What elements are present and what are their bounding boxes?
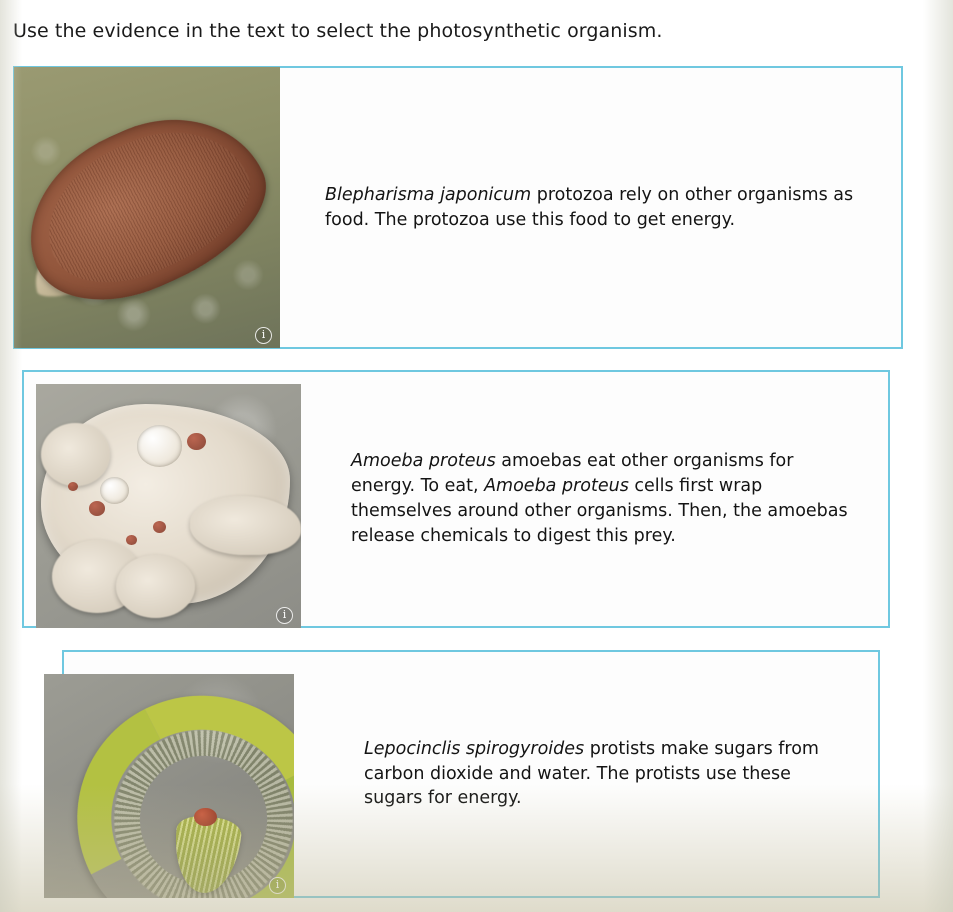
answer-option-lepocinclis[interactable]: i Lepocinclis spirogyroides protists mak… (62, 650, 880, 898)
page-title: Use the evidence in the text to select t… (13, 20, 663, 42)
info-icon[interactable]: i (276, 607, 293, 624)
blepharisma-micrograph-image[interactable]: i (14, 67, 280, 348)
lepocinclis-spiral-body (44, 674, 294, 898)
amoeba-vacuole (100, 477, 129, 504)
blepharisma-field (14, 67, 280, 348)
amoeba-species-name-2: Amoeba proteus (484, 476, 629, 496)
amoeba-micrograph-image[interactable]: i (36, 384, 301, 628)
amoeba-field (36, 384, 301, 628)
amoeba-species-name: Amoeba proteus (351, 451, 496, 471)
lepocinclis-eyespot (194, 808, 217, 826)
amoeba-granule (126, 535, 137, 545)
info-icon[interactable]: i (255, 327, 272, 344)
lepocinclis-caption: Lepocinclis spirogyroides protists make … (294, 652, 878, 896)
amoeba-granule (89, 501, 105, 516)
amoeba-pseudopod (190, 496, 301, 555)
lepocinclis-micrograph-image[interactable]: i (44, 674, 294, 898)
amoeba-granule (187, 433, 206, 450)
info-icon[interactable]: i (269, 877, 286, 894)
lepocinclis-field (44, 674, 294, 898)
amoeba-caption: Amoeba proteus amoebas eat other organis… (301, 372, 888, 626)
lepocinclis-species-name: Lepocinclis spirogyroides (364, 739, 584, 759)
amoeba-vacuole (137, 425, 182, 466)
blepharisma-caption: Blepharisma japonicum protozoa rely on o… (280, 68, 901, 347)
amoeba-pseudopod (116, 555, 196, 618)
amoeba-granule (153, 521, 166, 533)
answer-option-amoeba[interactable]: i Amoeba proteus amoebas eat other organ… (22, 370, 890, 628)
blepharisma-species-name: Blepharisma japonicum (325, 185, 531, 205)
answer-option-blepharisma[interactable]: i Blepharisma japonicum protozoa rely on… (13, 66, 903, 349)
